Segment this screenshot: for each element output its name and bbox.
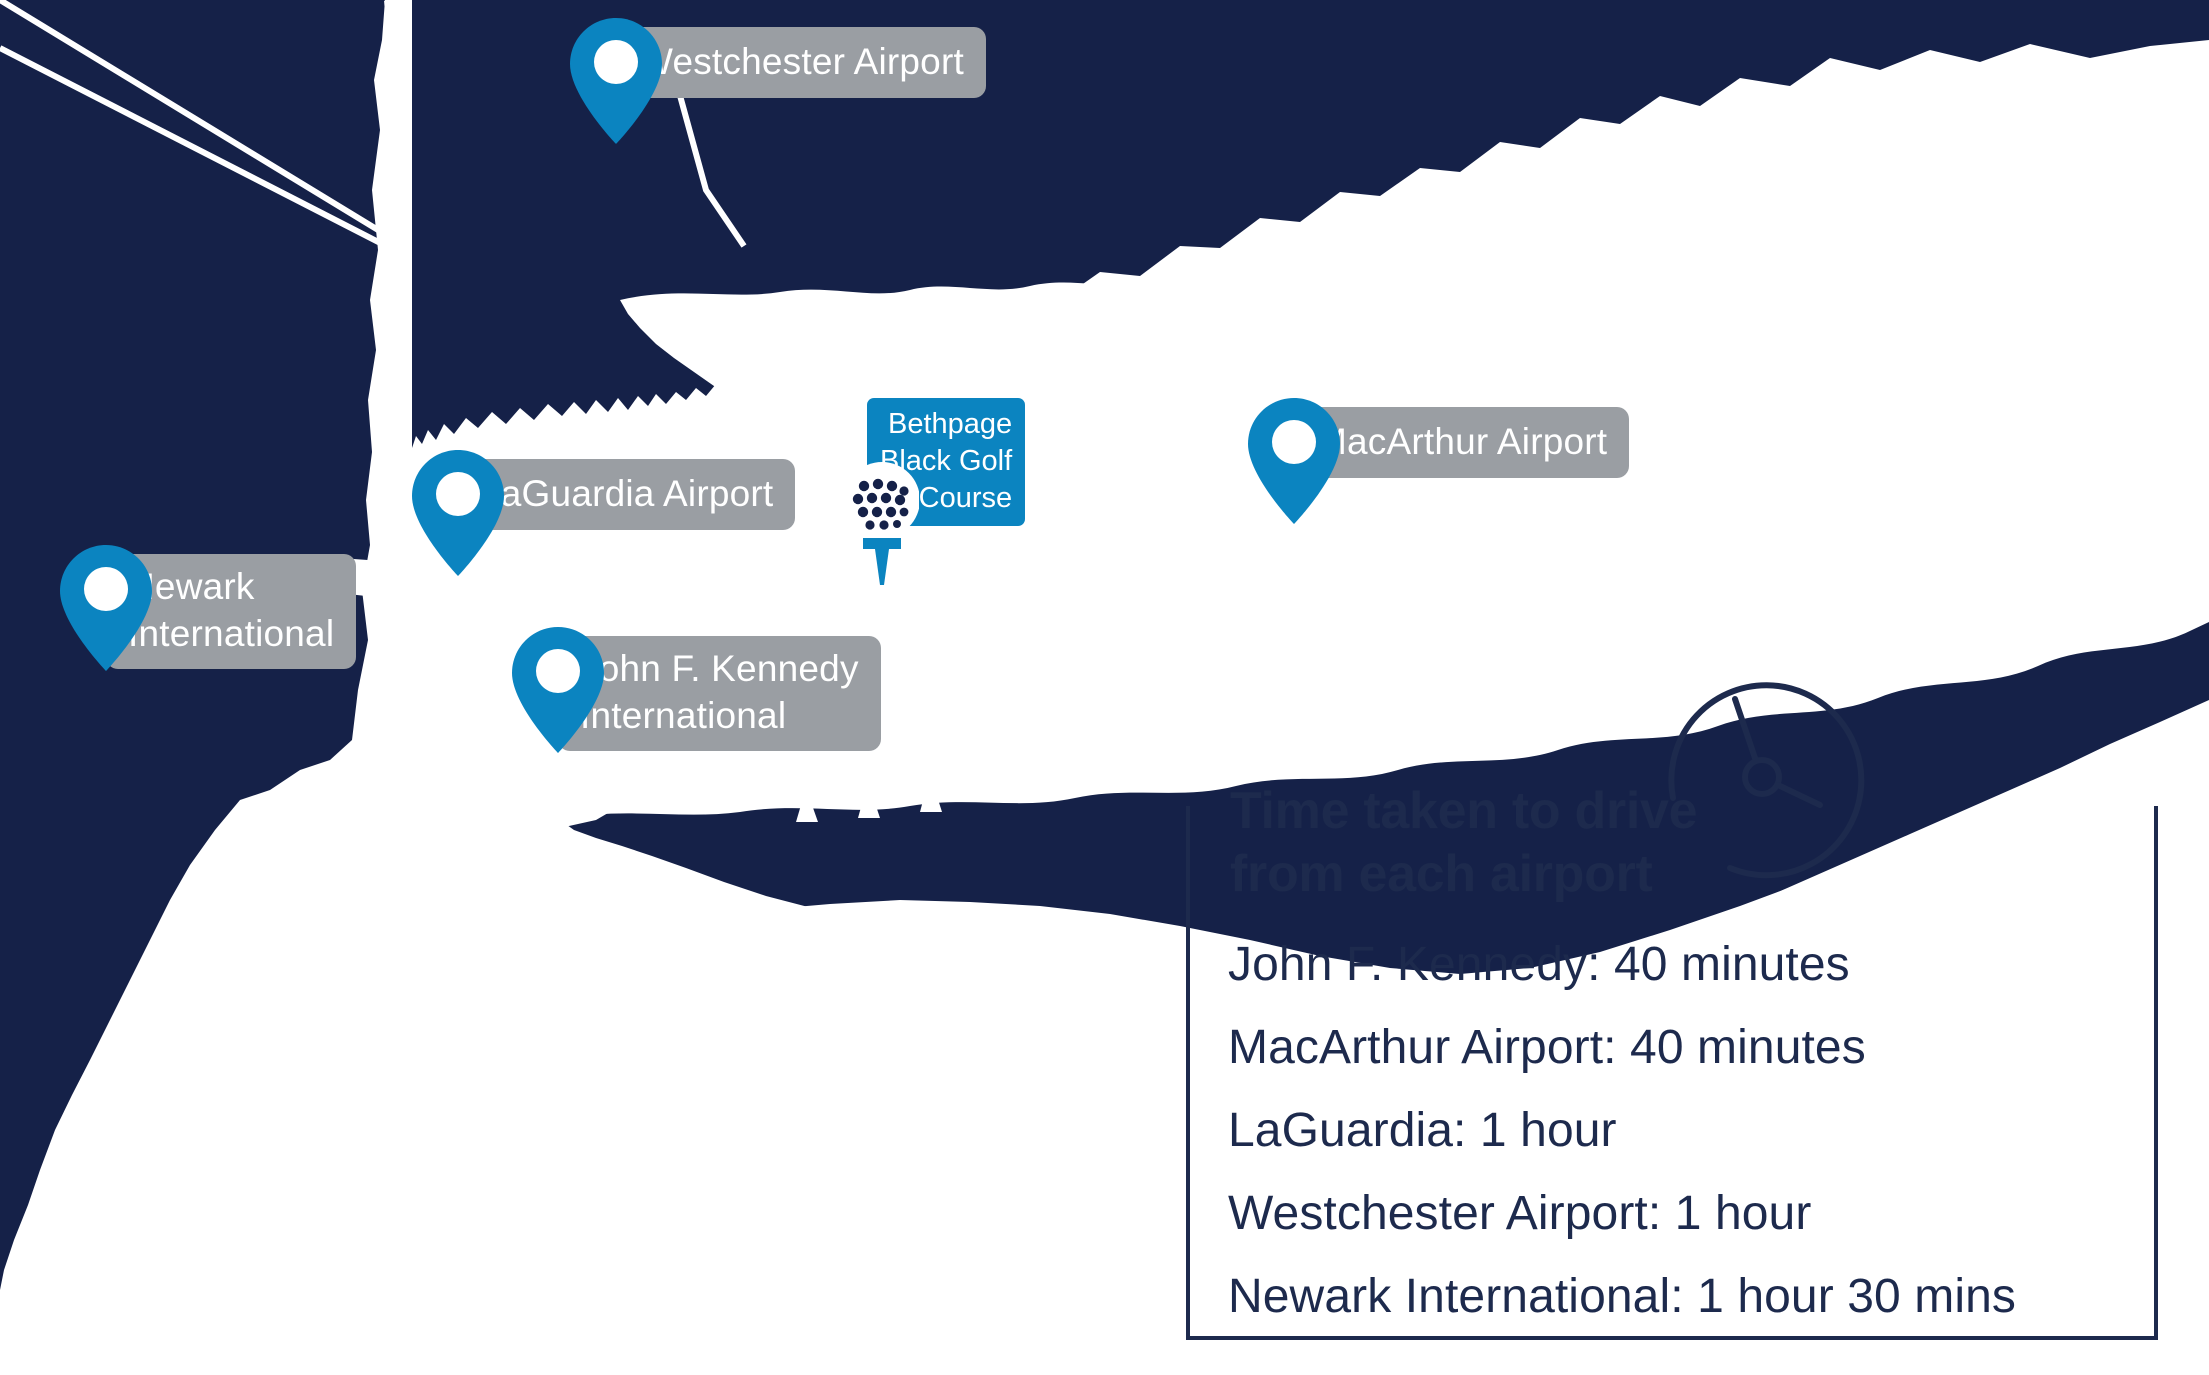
map-pin-icon (1248, 398, 1340, 524)
map-marker-jfk[interactable]: John F. Kennedy International (512, 627, 881, 753)
map-pin-icon (60, 545, 152, 671)
map-marker-newark[interactable]: Newark International (60, 545, 356, 671)
golf-ball-on-tee-icon (845, 460, 919, 585)
list-item: Westchester Airport: 1 hour (1228, 1187, 2158, 1242)
map-marker-westchester[interactable]: Westchester Airport (570, 18, 986, 144)
marker-label-jfk: John F. Kennedy International (558, 636, 881, 751)
drive-times-list: John F. Kennedy: 40 minutes MacArthur Ai… (1228, 938, 2158, 1325)
marker-label-macarthur: MacArthur Airport (1294, 407, 1629, 478)
map-infographic: Westchester Airport LaGuardia Airport Ne… (0, 0, 2209, 1375)
panel-heading: Time taken to drive from each airport (1230, 780, 1790, 907)
list-item: John F. Kennedy: 40 minutes (1228, 938, 2158, 993)
map-marker-macarthur[interactable]: MacArthur Airport (1248, 398, 1629, 524)
map-marker-bethpage[interactable]: Bethpage Black Golf Course (845, 398, 1035, 588)
map-pin-icon (512, 627, 604, 753)
map-marker-laguardia[interactable]: LaGuardia Airport (412, 450, 795, 576)
marker-label-westchester: Westchester Airport (616, 27, 986, 98)
list-item: MacArthur Airport: 40 minutes (1228, 1021, 2158, 1076)
list-item: LaGuardia: 1 hour (1228, 1104, 2158, 1159)
list-item: Newark International: 1 hour 30 mins (1228, 1270, 2158, 1325)
map-pin-icon (412, 450, 504, 576)
map-pin-icon (570, 18, 662, 144)
marker-label-laguardia: LaGuardia Airport (458, 459, 795, 530)
